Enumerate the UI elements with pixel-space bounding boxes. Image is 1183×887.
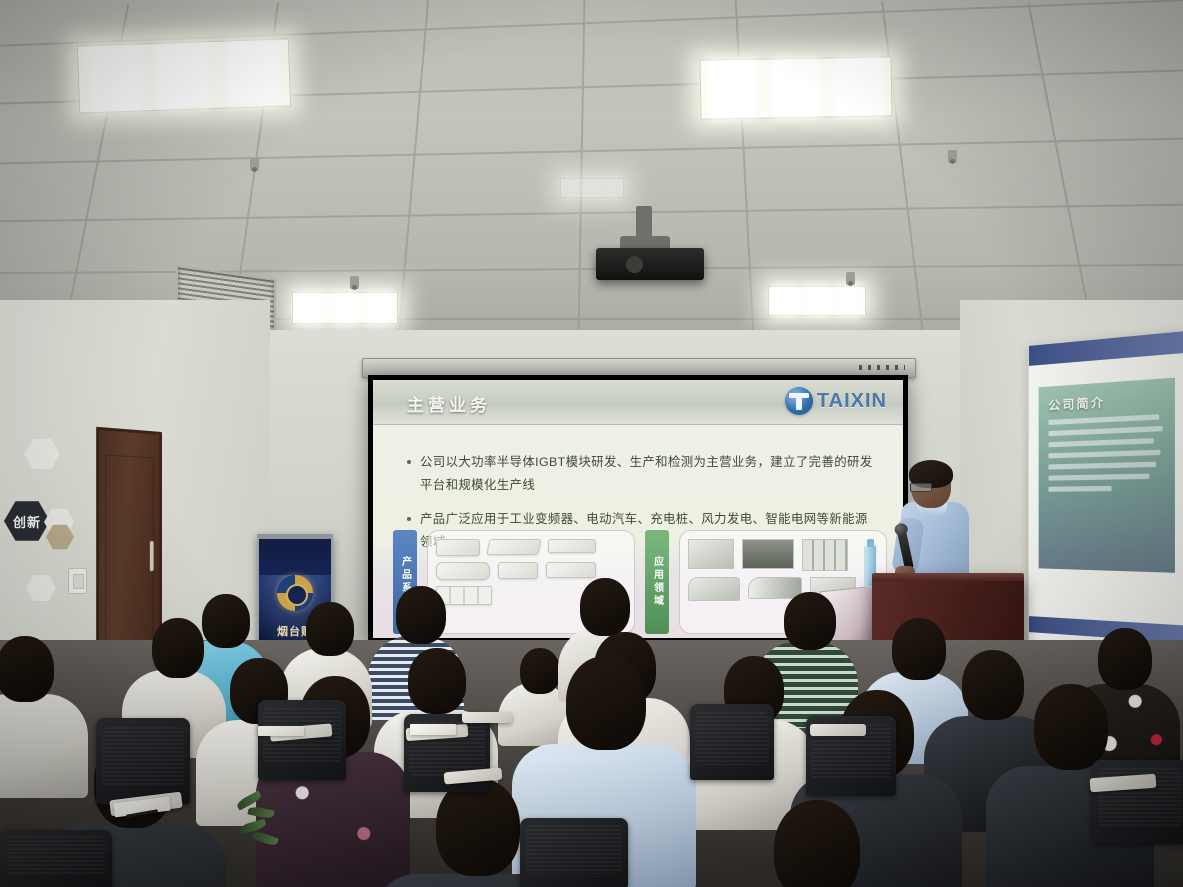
industrial-inverter-photo <box>688 539 734 569</box>
company-logo: TAIXIN <box>785 387 887 415</box>
module-photo <box>546 562 596 578</box>
poster-heading: 公司简介 <box>1048 389 1163 414</box>
module-photo <box>436 539 480 556</box>
module-photo <box>436 562 490 580</box>
module-photo <box>486 539 541 555</box>
room-door[interactable] <box>96 427 162 673</box>
notebook <box>410 724 456 735</box>
wall-decal-label: 创新 <box>13 512 41 531</box>
poster-text-line <box>1048 450 1160 459</box>
poster-text-line <box>1048 462 1156 470</box>
notebook <box>258 726 304 736</box>
conference-room-photo: 创新 主营业务 TAIXIN 公司以大功率半导体IGBT模块研发、生产和检测为主… <box>0 0 1183 887</box>
slide-bullet: 公司以大功率半导体IGBT模块研发、生产和检测为主营业务，建立了完善的研发平台和… <box>407 451 877 497</box>
ceiling-light-panel <box>560 178 624 198</box>
charging-pile-photo <box>802 539 848 571</box>
audience-chair[interactable] <box>96 718 190 804</box>
ceiling-light-panel <box>77 38 291 113</box>
electric-car-photo <box>688 577 740 601</box>
logo-wordmark: TAIXIN <box>817 390 887 413</box>
eyeglasses-icon <box>910 483 932 492</box>
audience-chair[interactable] <box>1092 760 1183 844</box>
audience-chair[interactable] <box>690 704 774 780</box>
poster-text-line <box>1048 414 1158 425</box>
fire-sprinkler-head <box>846 272 855 285</box>
yantai-emblem-icon <box>277 575 313 611</box>
bullet-dot-icon <box>407 460 411 464</box>
podium-top-edge <box>872 573 1024 581</box>
module-photo <box>498 562 538 579</box>
potted-plant <box>236 790 282 844</box>
ceiling-light-panel <box>768 286 866 316</box>
fire-sprinkler-head <box>350 276 359 289</box>
presenter <box>893 462 975 590</box>
slide-title: 主营业务 <box>407 391 491 416</box>
poster-text-line <box>1048 438 1154 447</box>
door-handle[interactable] <box>150 541 154 571</box>
module-photo <box>548 539 596 553</box>
audience-chair[interactable] <box>0 830 112 887</box>
chair-tablet-arm <box>810 724 866 736</box>
bullet-text: 公司以大功率半导体IGBT模块研发、生产和检测为主营业务，建立了完善的研发平台和… <box>420 451 877 497</box>
slide-header: 主营业务 TAIXIN <box>373 380 903 425</box>
panel-tab-application-fields: 应用领域 <box>645 530 669 634</box>
fire-sprinkler-head <box>250 158 259 171</box>
chair-tablet-arm <box>462 712 512 723</box>
ceiling-projector <box>596 248 704 280</box>
ceiling-light-panel <box>699 56 892 119</box>
poster-text-line <box>1048 486 1111 492</box>
module-photo <box>436 586 492 605</box>
projector-lens <box>626 256 643 273</box>
ceiling-light-panel <box>292 292 398 324</box>
taixin-circle-logo-icon <box>785 387 813 415</box>
poster-text-line <box>1048 426 1162 436</box>
poster-text-line <box>1048 474 1149 481</box>
bullet-dot-icon <box>407 517 411 521</box>
poster-content-panel: 公司简介 <box>1039 378 1175 573</box>
high-speed-train-photo <box>748 577 802 599</box>
wind-farm-photo <box>742 539 794 569</box>
housing-vents-icon <box>859 365 905 370</box>
light-switch[interactable] <box>68 568 87 594</box>
audience-chair[interactable] <box>520 818 628 887</box>
fire-sprinkler-head <box>948 150 957 163</box>
